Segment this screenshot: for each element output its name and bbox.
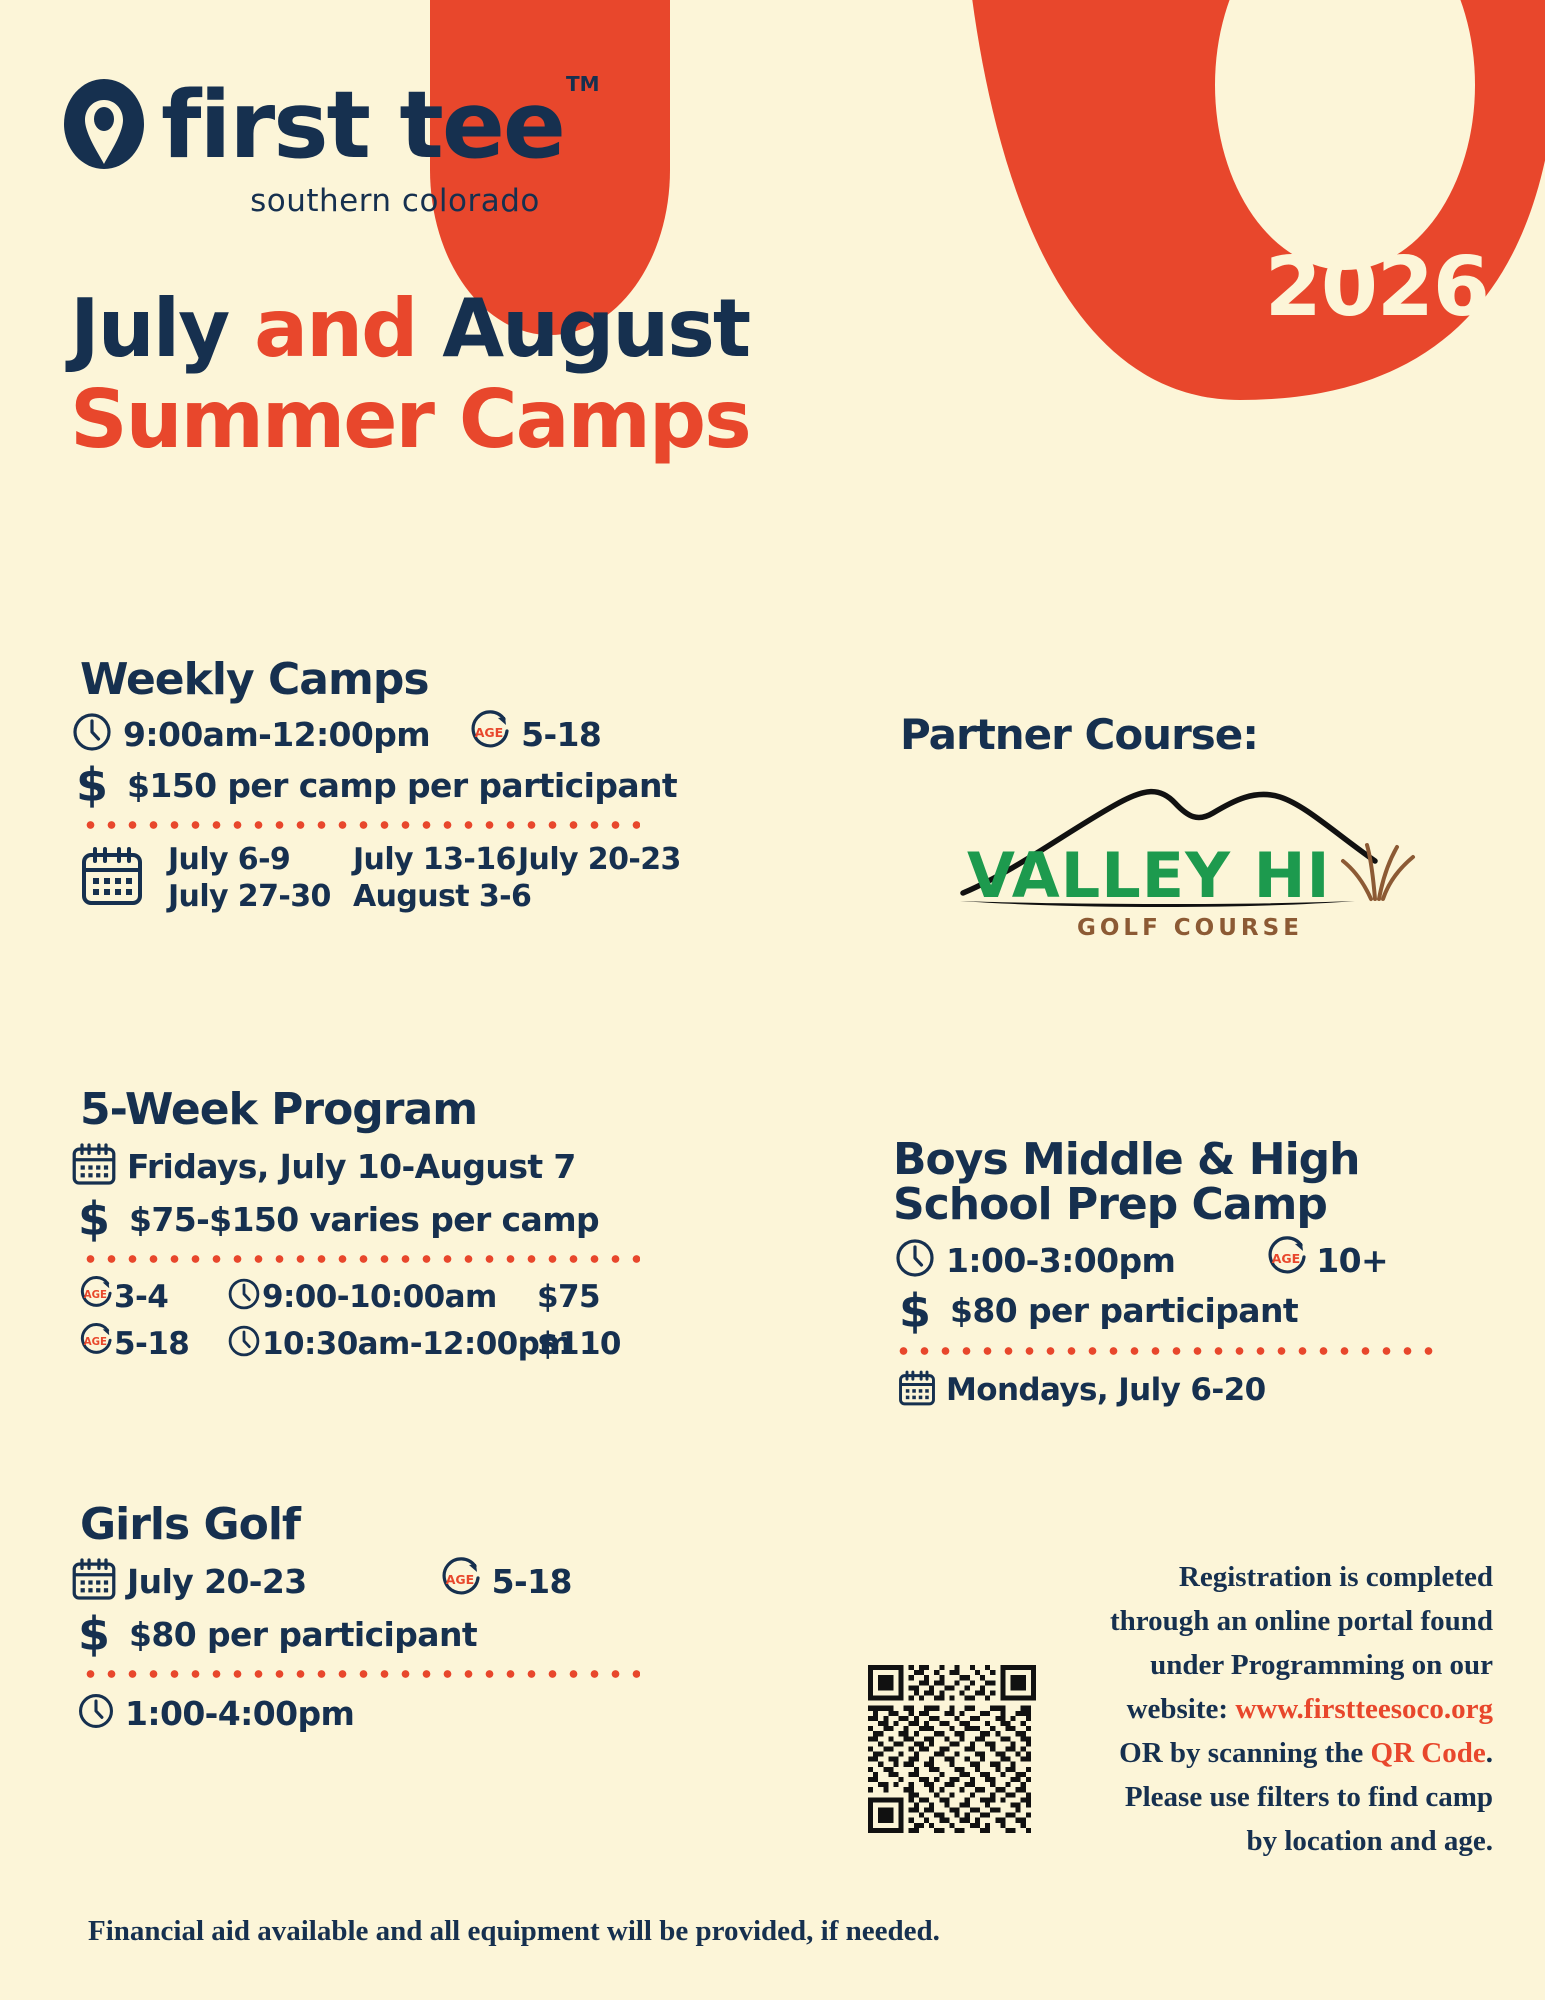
calendar-icon [70,1140,118,1193]
registration-line-3: under Programming on our [1098,1643,1493,1687]
boys-prep-time-age-row: 1:00-3:00pm AGE 10+ [893,1236,1463,1285]
weekly-camps-date: July 20-23 [518,842,681,877]
dollar-icon: $ [70,1196,118,1242]
five-week-row-price: $110 [537,1326,710,1362]
dollar-icon: $ [70,762,114,808]
svg-text:AGE: AGE [475,725,503,740]
qr-code-label: QR Code [1371,1737,1486,1769]
registration-line-4: website: www.firstteesoco.org [1098,1687,1493,1731]
weekly-camps-age: 5-18 [521,715,601,754]
first-tee-logo-mark [62,78,147,173]
headline-and: and [254,282,442,375]
five-week-price-row: $ $75-$150 varies per camp [70,1196,710,1242]
boys-prep-price: $80 per participant [950,1291,1298,1330]
page-title: July and August Summer Camps [70,283,750,465]
girls-golf-time-row: 1:00-4:00pm [76,1691,710,1736]
five-week-dates: Fridays, July 10-August 7 [127,1147,576,1186]
weekly-camps-price: $150 per camp per participant [127,766,677,805]
headline-august: August [442,282,749,375]
boys-prep-title-line-2: School Prep Camp [893,1180,1463,1229]
headline-line-2: Summer Camps [70,374,750,465]
registration-line-6: Please use filters to find camp [1098,1775,1493,1819]
logo-wordmark: first teeTM [161,84,598,168]
boys-prep-age: 10+ [1316,1241,1388,1280]
section-girls-golf: Girls Golf July 20-23 AGE 5-18 $ $80 per… [70,1500,710,1739]
svg-text:AGE: AGE [84,1337,107,1348]
divider-dotted [893,1344,1443,1358]
svg-text:VALLEY HI: VALLEY HI [967,839,1331,912]
headline-july: July [70,282,254,375]
boys-prep-price-row: $ $80 per participant [893,1288,1463,1334]
five-week-price: $75-$150 varies per camp [129,1200,599,1239]
dollar-icon: $ [893,1288,937,1334]
registration-line-5: OR by scanning the QR Code. [1098,1731,1493,1775]
boys-prep-dates: Mondays, July 6-20 [946,1372,1266,1408]
headline-line-1: July and August [70,283,750,374]
registration-info: Registration is completed through an onl… [1098,1555,1493,1864]
logo-subtitle: southern colorado [150,183,640,219]
website-link[interactable]: www.firstteesoco.org [1235,1693,1493,1725]
divider-dotted [80,1667,640,1681]
weekly-camps-date: July 13-16 [353,842,518,877]
calendar-icon [78,843,146,914]
clock-icon [226,1323,262,1364]
girls-golf-dates-age-row: July 20-23 AGE 5-18 [70,1555,710,1608]
weekly-camps-price-row: $ $150 per camp per participant [70,762,710,808]
boys-prep-title-line-1: Boys Middle & High [893,1135,1463,1184]
trademark-symbol: TM [566,72,600,96]
valley-hi-golf-course-logo: VALLEY HI GOLF COURSE [955,775,1425,950]
registration-line-7: by location and age. [1098,1819,1493,1863]
section-five-week-program: 5-Week Program Fridays, July 10-August 7… [70,1085,710,1364]
qr-code[interactable] [868,1665,1036,1833]
five-week-row-age: 3-4 [114,1279,226,1315]
five-week-row-time: 10:30am-12:00pm [262,1326,537,1362]
registration-website-label: website: [1127,1693,1236,1725]
calendar-icon [70,1555,118,1608]
svg-text:AGE: AGE [1272,1251,1300,1266]
clock-icon [76,1691,116,1736]
age-icon: AGE [468,710,514,759]
divider-dotted [80,1252,640,1266]
age-icon: AGE [439,1557,485,1606]
age-icon: AGE [78,1276,114,1317]
five-week-dates-row: Fridays, July 10-August 7 [70,1140,710,1193]
girls-golf-title: Girls Golf [80,1500,710,1549]
weekly-camps-dates-block: July 6-9 July 13-16 July 20-23 July 27-3… [78,842,710,914]
registration-line-2: through an online portal found [1098,1599,1493,1643]
svg-text:AGE: AGE [84,1290,107,1301]
svg-text:AGE: AGE [445,1572,473,1587]
five-week-row-price: $75 [537,1279,710,1315]
calendar-icon [897,1368,937,1413]
girls-golf-dates: July 20-23 [127,1562,307,1601]
weekly-camps-time-age-row: 9:00am-12:00pm AGE 5-18 [70,710,710,759]
registration-period: . [1486,1737,1493,1769]
five-week-row-time: 9:00-10:00am [262,1279,537,1315]
section-weekly-camps: Weekly Camps 9:00am-12:00pm AGE 5-18 $ $… [70,655,710,914]
five-week-table: AGE 3-4 9:00-10:00am $75 AGE 5-18 10:30a… [78,1276,710,1364]
girls-golf-price-row: $ $80 per participant [70,1611,710,1657]
weekly-camps-time: 9:00am-12:00pm [123,715,430,754]
five-week-row-age: 5-18 [114,1326,226,1362]
section-boys-prep-camp: Boys Middle & High School Prep Camp 1:00… [893,1135,1463,1416]
five-week-title: 5-Week Program [80,1085,710,1134]
weekly-camps-date: July 27-30 [168,879,353,914]
age-icon: AGE [78,1323,114,1364]
age-icon: AGE [1265,1236,1311,1285]
girls-golf-time: 1:00-4:00pm [125,1694,354,1733]
partner-course-label: Partner Course: [900,710,1258,759]
logo-wordmark-text: first tee [161,71,564,179]
footer-note: Financial aid available and all equipmen… [88,1915,940,1948]
boys-prep-time: 1:00-3:00pm [946,1241,1175,1280]
registration-qr-label: OR by scanning the [1119,1737,1370,1769]
clock-icon [70,710,114,759]
clock-icon [893,1236,937,1285]
svg-text:GOLF COURSE: GOLF COURSE [1077,915,1303,941]
weekly-camps-title: Weekly Camps [80,655,710,704]
girls-golf-price: $80 per participant [129,1615,477,1654]
girls-golf-age: 5-18 [492,1562,572,1601]
weekly-camps-date: August 3-6 [353,879,518,914]
weekly-camps-date: July 6-9 [168,842,353,877]
divider-dotted [80,818,640,832]
registration-line-1: Registration is completed [1098,1555,1493,1599]
year-badge: 2026 [1265,240,1489,335]
clock-icon [226,1276,262,1317]
boys-prep-dates-row: Mondays, July 6-20 [897,1368,1463,1413]
dollar-icon: $ [70,1611,118,1657]
brand-logo: first teeTM southern colorado [62,78,682,219]
